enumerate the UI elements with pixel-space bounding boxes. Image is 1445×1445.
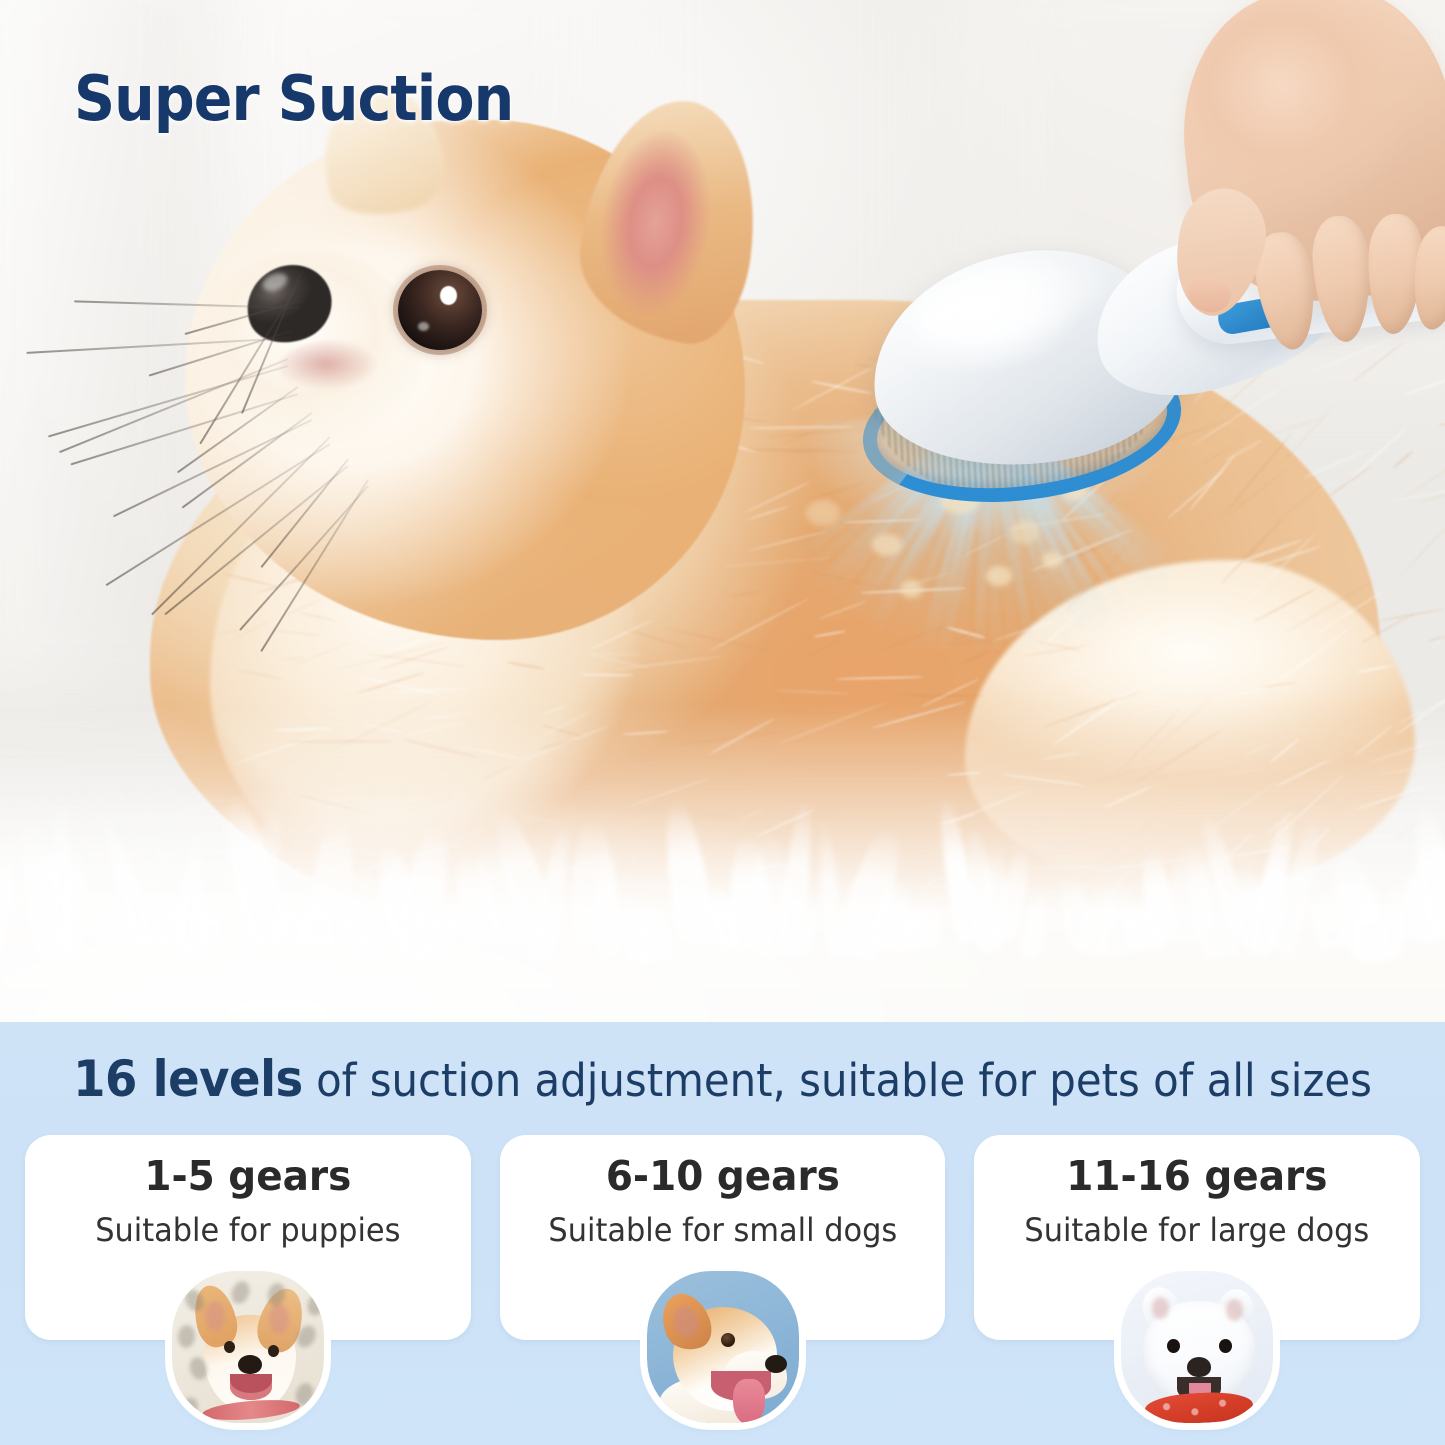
corgi-puppy-photo: [172, 1271, 324, 1423]
samoyed-dog-photo: [1121, 1271, 1273, 1423]
page-title: Super Suction: [74, 62, 513, 135]
gear-cards: 1-5 gears Suitable for puppies 6-10 gear…: [25, 1135, 1420, 1340]
banner-headline-rest: of suction adjustment, suitable for pets…: [303, 1054, 1372, 1107]
gear-card-subtitle: Suitable for small dogs: [511, 1211, 934, 1249]
blanket-spot: [228, 1279, 252, 1307]
gear-card-title: 1-5 gears: [36, 1152, 459, 1200]
hero-photo: Super Suction: [0, 0, 1445, 1022]
gear-card-title: 11-16 gears: [985, 1152, 1408, 1200]
fur-particle: [872, 534, 902, 556]
blanket-spot: [304, 1291, 324, 1319]
fur-particle: [1042, 552, 1062, 568]
gear-card-subtitle: Suitable for puppies: [36, 1211, 459, 1249]
gear-card-subtitle: Suitable for large dogs: [985, 1211, 1408, 1249]
gear-card-2[interactable]: 6-10 gears Suitable for small dogs: [500, 1135, 946, 1340]
banner-headline-highlight: 16 levels: [73, 1050, 303, 1108]
corgi-dog-photo: [647, 1271, 799, 1423]
gear-card-1[interactable]: 1-5 gears Suitable for puppies: [25, 1135, 471, 1340]
blanket-spot: [177, 1324, 196, 1348]
fur-particle: [1010, 520, 1040, 544]
fur-particle: [900, 580, 922, 598]
gear-card-3[interactable]: 11-16 gears Suitable for large dogs: [974, 1135, 1420, 1340]
gear-card-title: 6-10 gears: [511, 1152, 934, 1200]
fur-particle: [806, 500, 840, 526]
banner-headline: 16 levels of suction adjustment, suitabl…: [51, 1050, 1395, 1108]
fur-particle: [986, 566, 1012, 586]
product-feature-image: Super Suction 16 levels of suction adjus…: [0, 0, 1445, 1445]
